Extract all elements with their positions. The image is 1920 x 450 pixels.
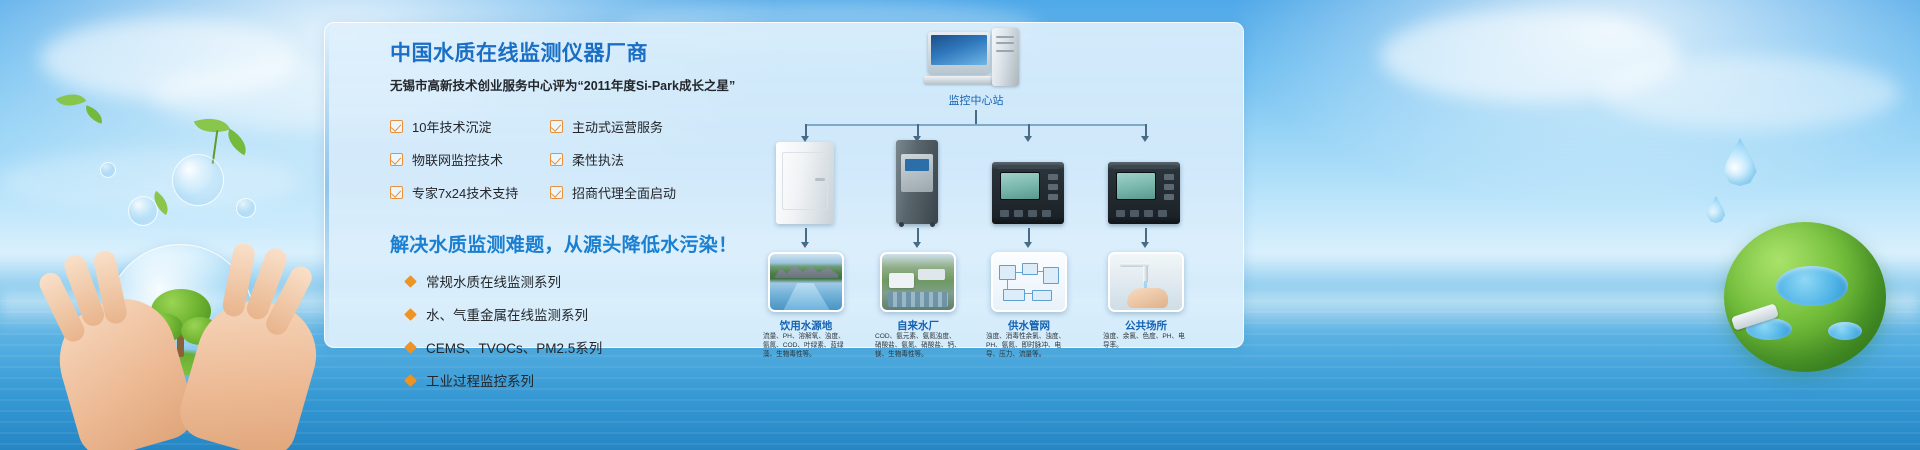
instrument-button-row [1000, 210, 1051, 217]
diamond-bullet-icon [404, 341, 417, 354]
faucet-handwash-scene [1110, 254, 1182, 310]
instrument-buttons [1048, 174, 1058, 200]
waterworks-scene [882, 254, 954, 310]
analyzer-cabinet-icon [776, 142, 834, 224]
diagram-box [1043, 267, 1059, 284]
checkbox-checked-icon [390, 186, 403, 199]
diagram-box [1022, 263, 1038, 275]
checklist-item: 招商代理全面启动 [550, 183, 720, 202]
list-item: 工业过程监控系列 [390, 370, 750, 390]
pc-tower-icon [992, 28, 1019, 86]
diagram-line [1016, 272, 1022, 273]
leaf-icon [56, 87, 86, 113]
checklist-item-label: 主动式运营服务 [572, 117, 663, 136]
node-caption: 公共场所 [1081, 318, 1211, 333]
tower-slot [996, 36, 1014, 38]
diagram-box [1003, 289, 1025, 301]
scenario-photo-pipeline-network [991, 252, 1067, 312]
earth-sphere [1724, 222, 1886, 372]
center-node-label: 监控中心站 [906, 92, 1046, 108]
arrow-down-icon [913, 242, 921, 248]
checklist-item-label: 柔性执法 [572, 150, 624, 169]
instrument-display [1116, 172, 1156, 200]
leaf-icon [222, 129, 253, 156]
device-white-cabinet [776, 142, 834, 224]
arrow-down-icon [1024, 242, 1032, 248]
bubble-decoration [172, 154, 224, 206]
plant-building [918, 269, 945, 280]
checkbox-checked-icon [390, 153, 403, 166]
controller-instrument-icon [1108, 162, 1180, 224]
scenario-photo-public-place [1108, 252, 1184, 312]
checklist-item: 主动式运营服务 [550, 117, 720, 136]
tower-slot [996, 50, 1014, 52]
river-shape [780, 283, 838, 310]
checkbox-checked-icon [550, 120, 563, 133]
cabinet-door [782, 152, 828, 210]
checklist-item-label: 10年技术沉淀 [412, 117, 491, 136]
list-item-label: 常规水质在线监测系列 [426, 271, 561, 291]
page-title: 中国水质在线监测仪器厂商 [390, 40, 750, 68]
control-center-computer-icon [928, 32, 1020, 88]
checklist-item: 物联网监控技术 [390, 150, 550, 169]
checklist-item-label: 专家7x24技术支持 [412, 183, 518, 202]
scenario-photo-drinking-source [768, 252, 844, 312]
list-item-label: CEMS、TVOCs、PM2.5系列 [426, 337, 602, 357]
page-subtitle: 无锡市高新技术创业服务中心评为“2011年度Si-Park成长之星” [390, 77, 750, 95]
instrument-button-row [1116, 210, 1167, 217]
instrument-display [1000, 172, 1040, 200]
node-caption: 饮用水源地 [741, 318, 871, 333]
device-instrument-1 [992, 162, 1064, 224]
water-drop-icon [1722, 138, 1758, 186]
feature-checklist: 10年技术沉淀 主动式运营服务 物联网监控技术 柔性执法 专家7x24技术支持 … [390, 117, 750, 202]
device-row [760, 138, 1230, 224]
cloud-decoration [40, 18, 300, 100]
list-item-label: 水、气重金属在线监测系列 [426, 304, 588, 324]
leaf-icon [82, 105, 105, 124]
water-drop-icon [1706, 196, 1726, 223]
rack-wheel [899, 222, 904, 227]
green-earth-illustration [1724, 222, 1886, 372]
faucet-spout [1143, 266, 1148, 282]
diamond-bullet-icon [404, 374, 417, 387]
banner-stage: 中国水质在线监测仪器厂商 无锡市高新技术创业服务中心评为“2011年度Si-Pa… [0, 0, 1920, 450]
connector-line [975, 110, 977, 124]
rack-display [905, 159, 929, 171]
device-dark-cabinet [896, 140, 938, 224]
monitor-screen [931, 35, 987, 65]
checklist-item: 柔性执法 [550, 150, 720, 169]
tower-slot [996, 42, 1014, 44]
hands-with-tree-illustration [62, 220, 312, 450]
system-topology-diagram: 监控中心站 [760, 30, 1230, 342]
controller-instrument-icon [992, 162, 1064, 224]
arrow-down-icon [801, 242, 809, 248]
checkbox-checked-icon [550, 186, 563, 199]
list-item-label: 工业过程监控系列 [426, 370, 534, 390]
diagram-box [1032, 290, 1052, 301]
lake-shape [1828, 322, 1862, 340]
list-item: 水、气重金属在线监测系列 [390, 304, 750, 324]
section-heading: 解决水质监测难题，从源头降低水污染！ [390, 230, 750, 257]
diagram-box [999, 265, 1016, 280]
mountain-shape [774, 262, 838, 278]
monitor-icon [928, 32, 990, 74]
bubble-decoration [100, 162, 116, 178]
checklist-item: 专家7x24技术支持 [390, 183, 550, 202]
hand-shape [1127, 288, 1167, 308]
river-scene [770, 254, 842, 310]
node-description: COD、氨元素、氨氮浊度、硝酸盐、氨氮、硝酸盐、钙、镁、生物毒性等。 [875, 332, 961, 359]
diagram-line [1025, 293, 1032, 294]
keyboard-icon [924, 76, 994, 84]
cabinet-handle [815, 178, 825, 181]
checklist-item-label: 物联网监控技术 [412, 150, 503, 169]
instrument-top-strip [997, 165, 1059, 169]
instrument-buttons [1164, 174, 1174, 200]
diagram-line [1038, 271, 1044, 272]
analyzer-rack-icon [896, 140, 938, 224]
cloud-decoration [1600, 56, 1900, 130]
rack-wheel [930, 222, 935, 227]
lake-shape [1776, 266, 1848, 306]
node-description: 流量、PH、溶解氧、浊度、氨氮、COD、叶绿素、蓝绿藻、生物毒性等。 [763, 332, 849, 359]
connector-bus [805, 124, 1145, 126]
instrument-top-strip [1113, 165, 1175, 169]
product-series-list: 常规水质在线监测系列 水、气重金属在线监测系列 CEMS、TVOCs、PM2.5… [390, 271, 750, 390]
left-content-column: 中国水质在线监测仪器厂商 无锡市高新技术创业服务中心评为“2011年度Si-Pa… [390, 40, 750, 390]
plant-building [889, 273, 913, 288]
checkbox-checked-icon [550, 153, 563, 166]
checklist-item-label: 招商代理全面启动 [572, 183, 676, 202]
pipeline-diagram-scene [993, 254, 1065, 310]
diamond-bullet-icon [404, 275, 417, 288]
list-item: 常规水质在线监测系列 [390, 271, 750, 291]
leaf-icon [194, 112, 230, 140]
checkbox-checked-icon [390, 120, 403, 133]
diagram-line [1007, 280, 1008, 289]
diamond-bullet-icon [404, 308, 417, 321]
device-instrument-2 [1108, 162, 1180, 224]
arrow-down-icon [1141, 242, 1149, 248]
cloud-decoration [1380, 10, 1680, 102]
scenario-photo-waterworks [880, 252, 956, 312]
node-caption: 供水管网 [964, 318, 1094, 333]
node-description: 浊度、余氯、色度、PH、电导率。 [1103, 332, 1189, 350]
bubble-decoration [236, 198, 256, 218]
list-item: CEMS、TVOCs、PM2.5系列 [390, 337, 750, 357]
node-description: 浊度、消毒性余氯、浊度、PH、氨氮、即时脉冲、电导、压力、流量等。 [986, 332, 1072, 359]
checklist-item: 10年技术沉淀 [390, 117, 550, 136]
plant-tanks [888, 292, 948, 307]
